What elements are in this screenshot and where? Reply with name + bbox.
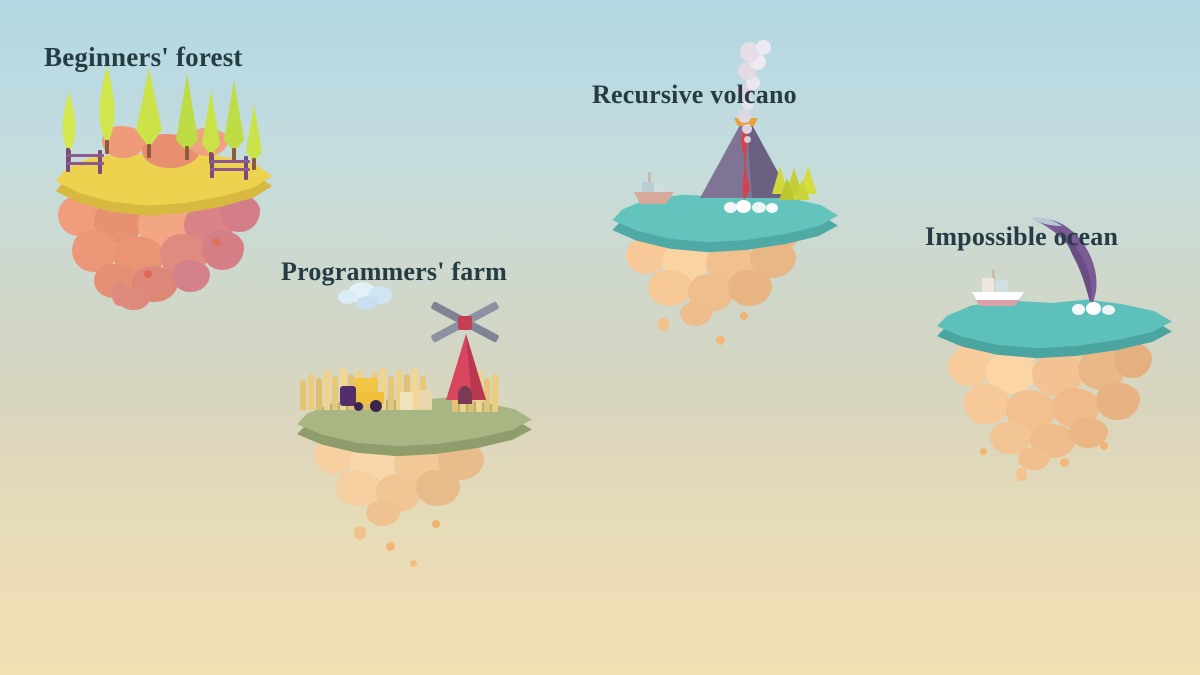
falling-debris	[716, 336, 725, 345]
falling-debris	[354, 526, 366, 540]
windmill-hub	[458, 316, 472, 330]
island-label-volcano[interactable]: Recursive volcano	[592, 80, 797, 110]
falling-debris	[386, 542, 395, 551]
tractor	[340, 378, 388, 410]
island-label-ocean[interactable]: Impossible ocean	[925, 222, 1118, 252]
falling-debris	[432, 520, 440, 528]
island-ocean[interactable]	[922, 262, 1172, 462]
island-farm[interactable]	[282, 360, 532, 530]
falling-debris	[1016, 468, 1027, 481]
hay-bale	[418, 390, 432, 410]
tree	[174, 74, 200, 170]
falling-debris	[410, 560, 417, 567]
foam	[724, 200, 784, 214]
foam	[1072, 302, 1120, 316]
falling-debris	[1060, 458, 1069, 467]
boat	[632, 172, 676, 206]
falling-debris	[112, 282, 128, 306]
island-forest[interactable]	[42, 110, 272, 310]
windmill	[422, 312, 508, 412]
island-volcano[interactable]	[598, 160, 838, 330]
falling-debris	[980, 448, 987, 455]
island-label-farm[interactable]: Programmers' farm	[281, 257, 507, 287]
fence	[64, 148, 108, 174]
falling-debris	[212, 238, 221, 247]
fence	[208, 154, 254, 180]
falling-debris	[1100, 442, 1108, 450]
falling-debris	[658, 318, 669, 331]
tree	[134, 68, 164, 168]
island-label-forest[interactable]: Beginners' forest	[44, 42, 243, 73]
boat	[970, 270, 1026, 310]
falling-debris	[740, 312, 748, 320]
hay-bale	[400, 392, 413, 410]
level-select-scene: Beginners' forest	[0, 0, 1200, 675]
windmill-door	[458, 386, 472, 404]
falling-debris	[144, 270, 152, 278]
